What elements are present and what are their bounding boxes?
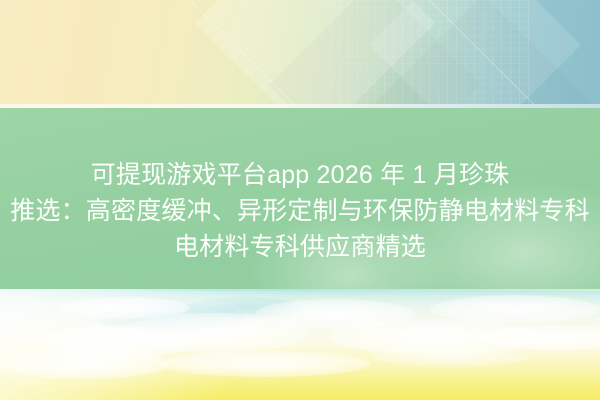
banner-image: 可提现游戏平台app 2026 年 1 月珍珠 推选：高密度缓冲、异形定制与环保…	[0, 0, 600, 400]
cloud-shape	[430, 295, 600, 323]
cloud-shape	[330, 319, 540, 355]
cloud-shape	[480, 325, 600, 351]
cloud-shape	[370, 345, 530, 367]
banner-title-line-3: 电材料专科供应商精选	[0, 230, 600, 264]
top-gradient-band	[0, 0, 600, 108]
sky-cloud-band	[0, 289, 600, 400]
dotted-grid-texture	[330, 0, 530, 108]
banner-title-line-1: 可提现游戏平台app 2026 年 1 月珍珠	[0, 158, 600, 192]
banner-title: 可提现游戏平台app 2026 年 1 月珍珠 推选：高密度缓冲、异形定制与环保…	[0, 108, 600, 289]
banner-title-line-2: 推选：高密度缓冲、异形定制与环保防静电材料专科	[0, 194, 600, 228]
sky-left-highlight	[0, 289, 300, 400]
